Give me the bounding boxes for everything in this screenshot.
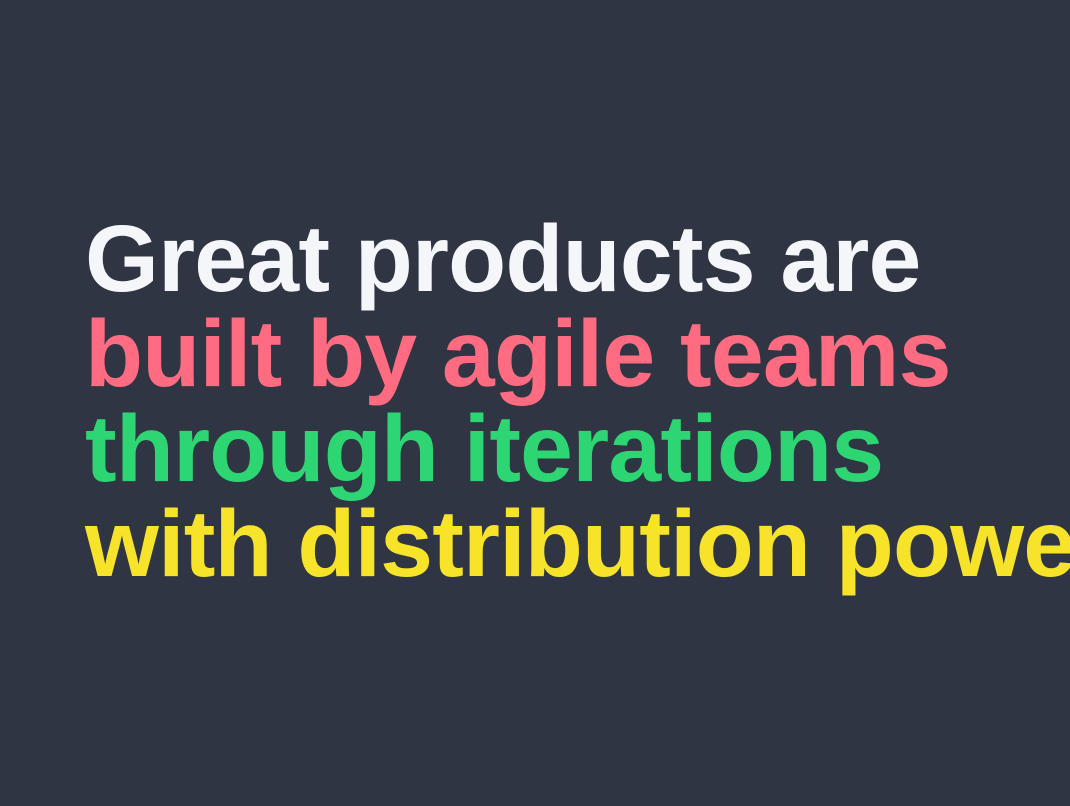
headline-line-1: Great products are: [85, 212, 1015, 307]
headline-block: Great products are built by agile teams …: [85, 212, 1015, 592]
headline-line-4: with distribution power: [85, 497, 1015, 592]
headline-line-3: through iterations: [85, 402, 1015, 497]
slide-canvas: Great products are built by agile teams …: [0, 0, 1070, 806]
headline-line-2: built by agile teams: [85, 307, 1015, 402]
